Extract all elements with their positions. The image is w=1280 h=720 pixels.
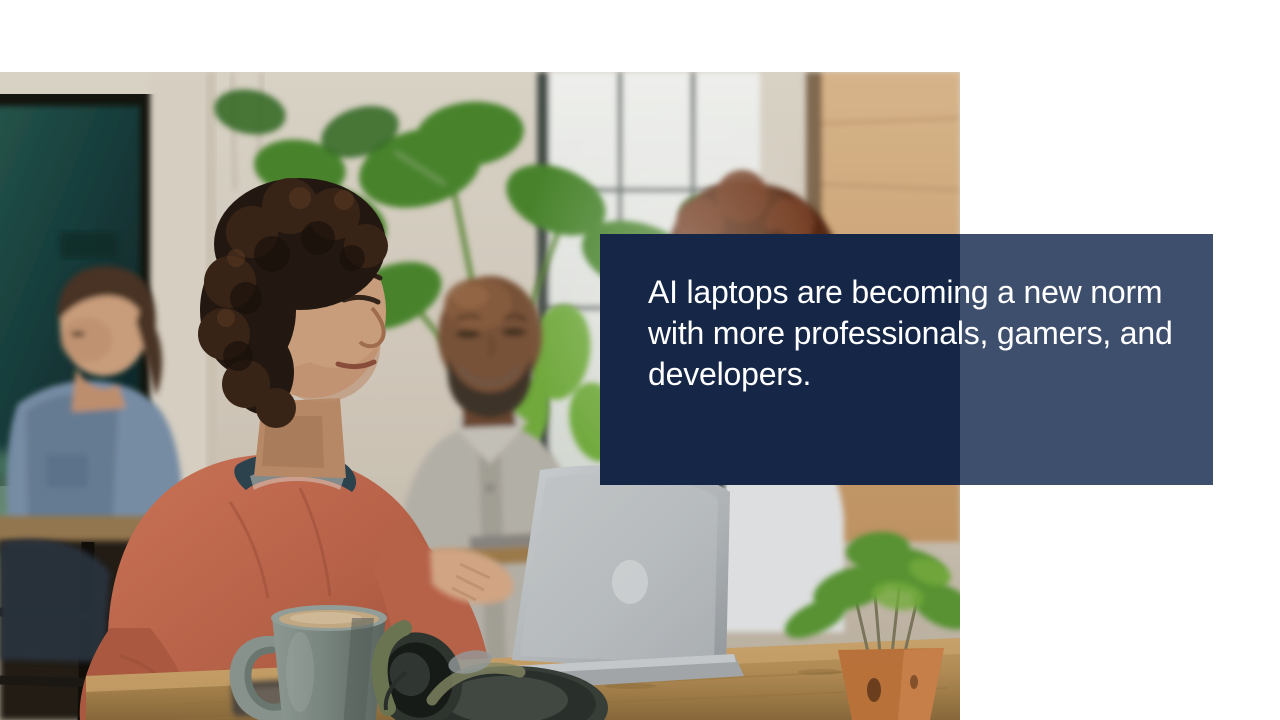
caption-overlay-panel: AI laptops are becoming a new norm with … — [600, 234, 1213, 485]
caption-text: AI laptops are becoming a new norm with … — [648, 272, 1188, 395]
slide-canvas: AI laptops are becoming a new norm with … — [0, 0, 1280, 720]
